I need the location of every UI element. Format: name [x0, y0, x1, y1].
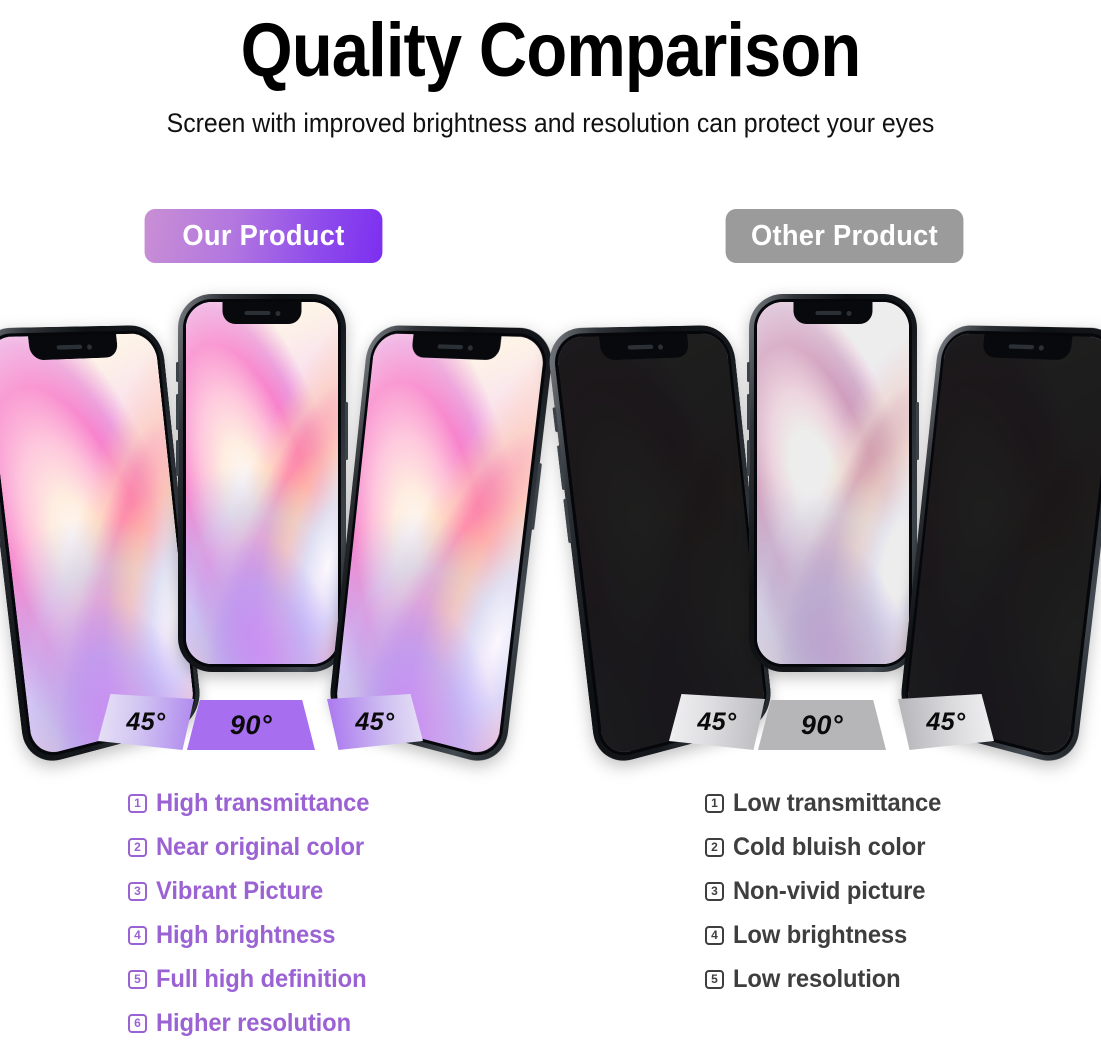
other-angle-plate-left: 45° — [669, 694, 765, 750]
list-item-label: Non-vivid picture — [733, 877, 925, 906]
other-product-feature-list: 1 Low transmittance 2 Cold bluish color … — [705, 781, 952, 1001]
list-item: 3 Vibrant Picture — [128, 869, 381, 913]
list-number-badge: 1 — [128, 794, 147, 813]
list-item: 1 Low transmittance — [705, 781, 952, 825]
list-item: 2 Near original color — [128, 825, 381, 869]
other-angle-left-label: 45° — [697, 708, 736, 737]
other-product-badge: Other Product — [726, 209, 964, 263]
our-product-badge-label: Our Product — [182, 220, 344, 253]
our-angle-right-label: 45° — [355, 708, 394, 737]
phone-notch — [222, 302, 301, 324]
list-item-label: High brightness — [156, 921, 335, 950]
list-item-label: Low transmittance — [733, 789, 941, 818]
list-item-label: High transmittance — [156, 789, 369, 818]
list-item: 1 High transmittance — [128, 781, 381, 825]
list-item: 5 Low resolution — [705, 957, 952, 1001]
phone-comparison-stage: 45° 90° 45° — [0, 276, 1101, 756]
phone-notch — [599, 334, 690, 360]
other-angle-center-label: 90° — [801, 710, 843, 741]
wallpaper-vibrant — [0, 333, 195, 758]
our-phone-center-90 — [178, 294, 346, 672]
list-item: 3 Non-vivid picture — [705, 869, 952, 913]
list-item: 2 Cold bluish color — [705, 825, 952, 869]
wallpaper-vibrant — [335, 333, 546, 758]
our-product-badge: Our Product — [145, 209, 383, 263]
phone-notch — [28, 334, 119, 360]
list-number-badge: 2 — [128, 838, 147, 857]
other-angle-plate-center: 90° — [758, 700, 886, 750]
wallpaper-vibrant — [186, 302, 338, 664]
product-badge-row: Our Product Other Product — [0, 209, 1101, 269]
phone-notch — [793, 302, 872, 324]
our-angle-plate-left: 45° — [98, 694, 194, 750]
page-subtitle: Screen with improved brightness and reso… — [44, 106, 1057, 140]
list-item-label: Vibrant Picture — [156, 877, 323, 906]
list-item: 4 Low brightness — [705, 913, 952, 957]
list-number-badge: 5 — [128, 970, 147, 989]
list-number-badge: 1 — [705, 794, 724, 813]
other-product-badge-label: Other Product — [751, 220, 938, 253]
other-phone-center-90 — [749, 294, 917, 672]
list-item-label: Full high definition — [156, 965, 366, 994]
list-number-badge: 5 — [705, 970, 724, 989]
list-item: 5 Full high definition — [128, 957, 381, 1001]
list-item-label: Near original color — [156, 833, 364, 862]
wallpaper-washed — [757, 302, 909, 664]
list-item-label: Higher resolution — [156, 1009, 351, 1038]
our-angle-center-label: 90° — [230, 710, 272, 741]
our-angle-plate-center: 90° — [187, 700, 315, 750]
other-product-phone-group: 45° 90° 45° — [571, 276, 1101, 756]
phone-notch — [411, 334, 502, 360]
list-item-label: Cold bluish color — [733, 833, 925, 862]
list-item-label: Low resolution — [733, 965, 901, 994]
header: Quality Comparison Screen with improved … — [0, 0, 1101, 140]
list-number-badge: 4 — [128, 926, 147, 945]
list-number-badge: 6 — [128, 1014, 147, 1033]
phone-notch — [982, 334, 1073, 360]
our-product-phone-group: 45° 90° 45° — [0, 276, 530, 756]
list-item: 4 High brightness — [128, 913, 381, 957]
list-number-badge: 3 — [128, 882, 147, 901]
other-angle-right-label: 45° — [926, 708, 965, 737]
our-product-feature-list: 1 High transmittance 2 Near original col… — [128, 781, 381, 1045]
our-angle-plate-right: 45° — [327, 694, 423, 750]
other-angle-plate-right: 45° — [898, 694, 994, 750]
list-number-badge: 3 — [705, 882, 724, 901]
page-title: Quality Comparison — [66, 10, 1035, 92]
list-item: 6 Higher resolution — [128, 1001, 381, 1045]
list-number-badge: 4 — [705, 926, 724, 945]
our-angle-left-label: 45° — [126, 708, 165, 737]
wallpaper-dim — [555, 333, 766, 758]
wallpaper-dim — [906, 333, 1101, 758]
list-item-label: Low brightness — [733, 921, 907, 950]
list-number-badge: 2 — [705, 838, 724, 857]
